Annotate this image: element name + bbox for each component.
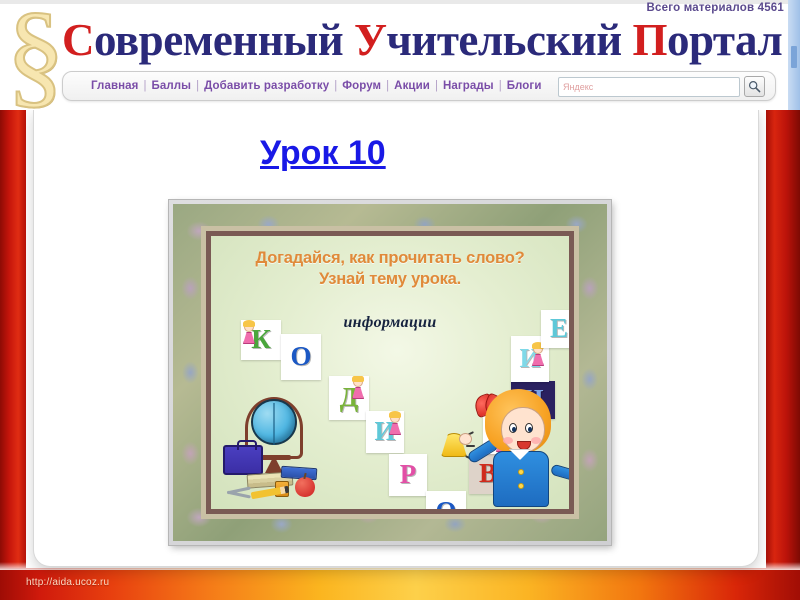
helper-body — [243, 332, 255, 344]
nav-separator: | — [435, 80, 438, 92]
girl-arm-right — [550, 464, 569, 482]
lesson-title[interactable]: Урок 10 — [260, 132, 490, 174]
letter-tile-11[interactable]: Е — [541, 310, 569, 348]
footer-watermark: http://aida.ucoz.ru — [26, 577, 109, 588]
letter-tile-1[interactable]: К — [241, 320, 281, 360]
slide-board: Догадайся, как прочитать слово? Узнай те… — [211, 236, 569, 509]
nav-item-6[interactable]: Награды — [443, 80, 494, 92]
nav-separator: | — [386, 80, 389, 92]
search-area — [558, 76, 765, 97]
cartoon-helper-figure — [388, 413, 402, 435]
girl-hand-left — [459, 433, 472, 445]
girl-eye-right — [525, 423, 533, 433]
cartoon-helper-figure — [351, 377, 365, 399]
cartoon-helper-figure — [242, 322, 256, 344]
nav-separator: | — [334, 80, 337, 92]
helper-hair — [243, 320, 255, 327]
nav-separator: | — [143, 80, 146, 92]
search-button[interactable] — [744, 76, 765, 97]
search-input[interactable] — [558, 77, 740, 97]
girl-cheek-left — [503, 437, 513, 444]
header-right-edge — [788, 0, 800, 110]
frame-rail-left — [0, 108, 26, 600]
uniform-button — [518, 469, 524, 475]
letter-glyph: Р — [400, 461, 417, 488]
girl-eye-left — [509, 423, 517, 433]
frame-rail-bottom — [0, 568, 800, 600]
site-title-capital: П — [632, 15, 667, 65]
helper-body — [389, 423, 401, 435]
helper-hair — [352, 376, 364, 382]
slide-question: Догадайся, как прочитать слово? Узнай те… — [211, 248, 569, 290]
uniform-button — [518, 483, 524, 489]
nav-item-3[interactable]: Добавить разработку — [204, 80, 329, 92]
search-icon — [748, 80, 761, 93]
main-navbar: Главная|Баллы|Добавить разработку|Форум|… — [62, 71, 776, 101]
briefcase-icon — [223, 445, 263, 475]
site-title-capital: У — [354, 15, 387, 65]
helper-body — [352, 387, 364, 399]
school-supplies-illustration — [221, 393, 339, 505]
nav-item-1[interactable]: Главная — [91, 80, 138, 92]
letter-tile-5[interactable]: Р — [389, 454, 427, 496]
site-title-capital: С — [62, 15, 94, 65]
nav-item-2[interactable]: Баллы — [151, 80, 191, 92]
site-header: § Современный Учительский Портал Всего м… — [0, 0, 800, 110]
slide-question-line1: Догадайся, как прочитать слово? — [211, 248, 569, 269]
lesson-slide-image[interactable]: Догадайся, как прочитать слово? Узнай те… — [169, 200, 611, 545]
letter-tile-2[interactable]: О — [281, 334, 321, 380]
letter-tile-6[interactable]: О — [426, 491, 466, 509]
schoolgirl-illustration — [471, 371, 567, 507]
nav-separator: | — [196, 80, 199, 92]
materials-counter: Всего материалов 4561 — [647, 2, 784, 14]
helper-hair — [389, 411, 401, 418]
globe-icon — [251, 399, 297, 445]
nav-links: Главная|Баллы|Добавить разработку|Форум|… — [91, 80, 542, 92]
apple-icon — [295, 477, 315, 497]
bell-sound-line — [466, 445, 475, 447]
nav-separator: | — [499, 80, 502, 92]
nav-item-7[interactable]: Блоги — [507, 80, 542, 92]
girl-uniform — [493, 451, 549, 507]
letter-glyph: О — [435, 498, 456, 510]
letter-glyph: Е — [550, 315, 568, 342]
scissors-icon — [227, 485, 253, 501]
girl-cheek-right — [531, 437, 541, 444]
helper-body — [532, 354, 544, 366]
site-title-word: чительский — [387, 15, 633, 65]
nav-item-4[interactable]: Форум — [342, 80, 381, 92]
page-root: http://aida.ucoz.ru Урок 10 Догадайся, к… — [0, 0, 800, 600]
site-title-word: ортал — [667, 15, 782, 65]
frame-rail-right — [766, 108, 800, 600]
nav-item-5[interactable]: Акции — [394, 80, 430, 92]
site-title-word: овременный — [94, 15, 354, 65]
letter-glyph: О — [290, 343, 311, 370]
slide-question-line2: Узнай тему урока. — [211, 269, 569, 290]
letter-tile-4[interactable]: И — [366, 411, 404, 453]
site-title: Современный Учительский Портал — [62, 14, 782, 66]
